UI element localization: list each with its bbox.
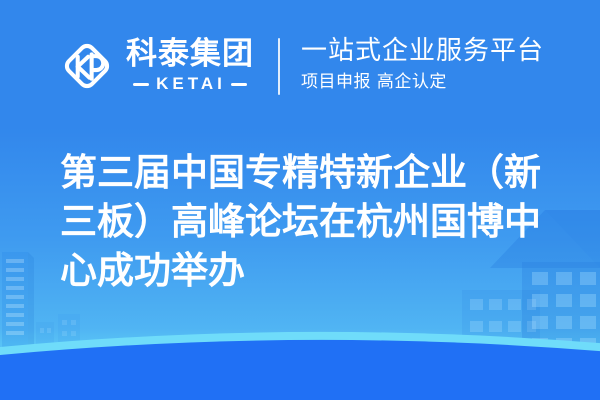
header-tagline: 一站式企业服务平台 项目申报 高企认定 xyxy=(301,36,544,95)
brand-name-cn: 科泰集团 xyxy=(126,38,254,71)
brand-wordmark: 科泰集团 KETAI xyxy=(126,38,254,95)
tagline-primary: 一站式企业服务平台 xyxy=(301,36,544,67)
header-vertical-divider xyxy=(278,38,280,95)
wordmark-rule-right xyxy=(231,83,247,86)
building-right-short xyxy=(462,290,540,352)
bottom-wave-curve xyxy=(0,332,600,400)
building-left-small-group xyxy=(36,314,80,352)
wordmark-rule-left xyxy=(133,83,149,86)
brand-name-en: KETAI xyxy=(156,74,226,94)
brand-name-en-row: KETAI xyxy=(126,74,254,94)
article-title: 第三届中国专精特新企业（新三板）高峰论坛在杭州国博中心成功举办 xyxy=(60,148,554,296)
tagline-secondary: 项目申报 高企认定 xyxy=(301,70,544,96)
article-title-container: 第三届中国专精特新企业（新三板）高峰论坛在杭州国博中心成功举办 xyxy=(60,148,554,296)
brand-logo[interactable]: 科泰集团 KETAI xyxy=(58,37,254,95)
banner-header: 科泰集团 KETAI 一站式企业服务平台 项目申报 高企认定 xyxy=(0,0,600,132)
building-left-tower xyxy=(2,252,34,352)
ketai-kp-diamond-logo-icon xyxy=(58,37,116,95)
article-cover-banner: 科泰集团 KETAI 一站式企业服务平台 项目申报 高企认定 第三届中国专精特新… xyxy=(0,0,600,400)
